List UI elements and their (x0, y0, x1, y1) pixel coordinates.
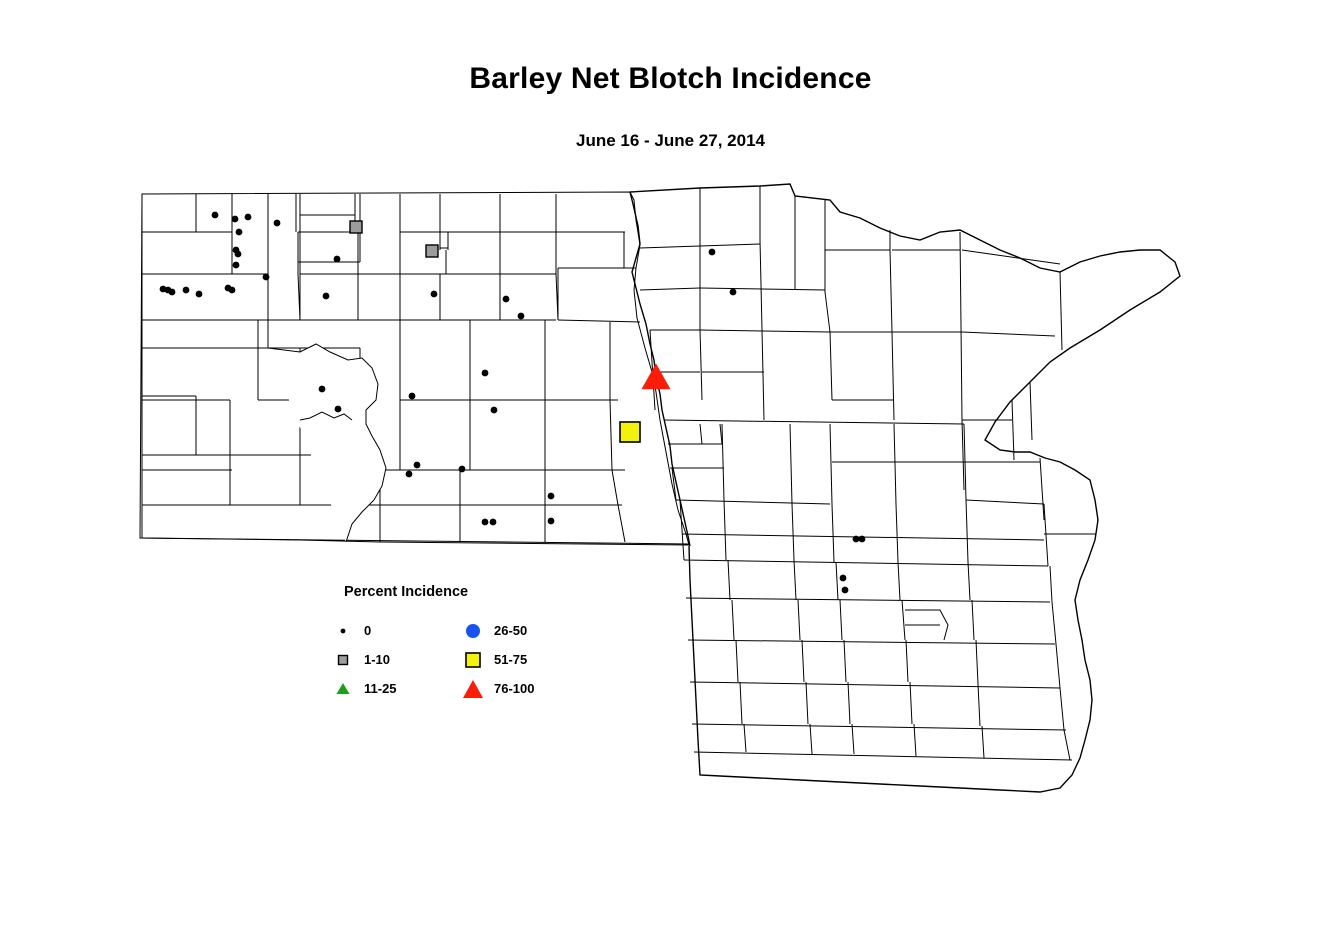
blue-circle-icon (460, 622, 486, 640)
incidence-point-0 (853, 536, 860, 543)
legend-item-76-100[interactable]: 76-100 (460, 674, 534, 703)
red-triangle-icon (460, 678, 486, 700)
incidence-point-0 (503, 296, 510, 303)
incidence-point-0 (548, 518, 555, 525)
incidence-point-0 (482, 519, 489, 526)
legend-label-26-50: 26-50 (494, 623, 527, 638)
incidence-point-0 (490, 519, 497, 526)
map-canvas (0, 0, 1341, 926)
legend-item-26-50[interactable]: 26-50 (460, 616, 534, 645)
incidence-point-0 (319, 386, 326, 393)
legend-item-0[interactable]: 0 (330, 616, 460, 645)
incidence-point-0 (229, 287, 236, 294)
incidence-point-0 (274, 220, 281, 227)
incidence-point-0 (431, 291, 438, 298)
incidence-point-0 (263, 274, 270, 281)
incidence-point-0 (245, 214, 252, 221)
incidence-point-0 (548, 493, 555, 500)
incidence-point-0 (709, 249, 716, 256)
yellow-square-icon (460, 650, 486, 670)
incidence-point-0 (235, 251, 242, 258)
incidence-point-0 (414, 462, 421, 469)
legend-column-left: 0 1-10 11-25 (330, 616, 460, 703)
incidence-point-0 (482, 370, 489, 377)
incidence-point-51-75 (620, 422, 640, 442)
incidence-point-1-10 (426, 245, 438, 257)
incidence-point-0 (840, 575, 847, 582)
legend-label-51-75: 51-75 (494, 652, 527, 667)
legend-label-76-100: 76-100 (494, 681, 534, 696)
gray-square-icon (330, 653, 356, 667)
incidence-point-0 (409, 393, 416, 400)
incidence-point-0 (335, 406, 342, 413)
minnesota-counties (630, 184, 1180, 792)
legend-item-51-75[interactable]: 51-75 (460, 645, 534, 674)
legend-title: Percent Incidence (344, 584, 600, 600)
incidence-point-0 (334, 256, 341, 263)
incidence-point-0 (459, 466, 466, 473)
legend-label-0: 0 (364, 623, 371, 638)
incidence-point-0 (233, 262, 240, 269)
incidence-point-0 (730, 289, 737, 296)
incidence-point-0 (406, 471, 413, 478)
incidence-point-0 (196, 291, 203, 298)
legend-item-1-10[interactable]: 1-10 (330, 645, 460, 674)
small-black-dot-icon (330, 625, 356, 637)
incidence-point-0 (232, 216, 239, 223)
legend-label-1-10: 1-10 (364, 652, 390, 667)
green-triangle-icon (330, 681, 356, 696)
incidence-point-0 (183, 287, 190, 294)
incidence-point-0 (169, 289, 176, 296)
incidence-point-0 (491, 407, 498, 414)
incidence-point-0 (859, 536, 866, 543)
incidence-point-1-10 (350, 221, 362, 233)
map-svg (0, 0, 1341, 926)
incidence-point-0 (212, 212, 219, 219)
legend: Percent Incidence 0 1-10 (330, 584, 600, 703)
legend-item-11-25[interactable]: 11-25 (330, 674, 460, 703)
incidence-point-0 (842, 587, 849, 594)
incidence-point-0 (518, 313, 525, 320)
incidence-point-0 (236, 229, 243, 236)
incidence-point-0 (323, 293, 330, 300)
legend-column-right: 26-50 51-75 76-100 (460, 616, 534, 703)
legend-label-11-25: 11-25 (364, 681, 397, 696)
north-dakota-counties (140, 192, 690, 545)
map-page: Barley Net Blotch Incidence June 16 - Ju… (0, 0, 1341, 926)
